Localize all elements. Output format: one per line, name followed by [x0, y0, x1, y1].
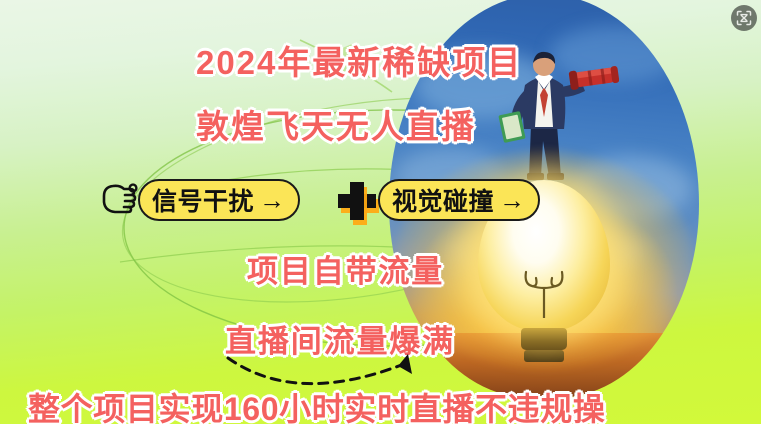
arrow-right-icon: → [499, 185, 526, 216]
page-title-line-2: 敦煌飞天无人直播 [196, 100, 476, 148]
plus-icon [336, 180, 378, 222]
badge-visual-collision[interactable]: 视觉碰撞 → [378, 179, 540, 221]
scan-frame-button[interactable] [731, 5, 757, 31]
badge-label: 信号干扰 [152, 182, 254, 218]
pointing-hand-icon [100, 180, 140, 214]
badge-label: 视觉碰撞 [392, 182, 494, 218]
promo-poster: 2024年最新稀缺项目 敦煌飞天无人直播 信号干扰 → 视觉碰撞 → 项目自带流… [0, 0, 761, 424]
bulb-filament [516, 268, 572, 322]
body-line-3: 整个项目实现160小时实时直播不违规操 [28, 384, 606, 424]
page-title-line-1: 2024年最新稀缺项目 [196, 36, 522, 84]
bulb-neck [521, 328, 567, 350]
arrow-right-icon: → [259, 185, 286, 216]
badge-signal-interference[interactable]: 信号干扰 → [138, 179, 300, 221]
body-line-1: 项目自带流量 [247, 246, 444, 291]
scan-frame-icon [736, 10, 752, 26]
